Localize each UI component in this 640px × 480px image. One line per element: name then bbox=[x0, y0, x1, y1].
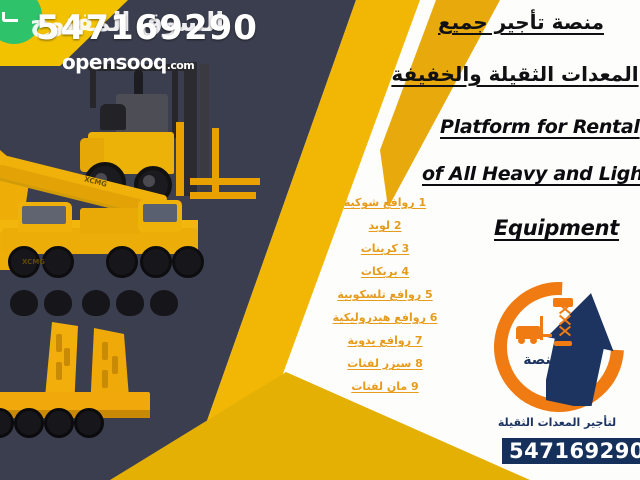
logo-wordmark: المنصة bbox=[508, 352, 586, 368]
crane-wheel bbox=[140, 246, 172, 278]
crane-wheel bbox=[42, 246, 74, 278]
advertisement-canvas: CAT XCMG XCMG bbox=[0, 0, 640, 480]
headline-arabic-line-1: منصة تأجير جميع bbox=[386, 10, 640, 34]
forklift-seat bbox=[100, 104, 126, 130]
phone-number-bottom: 547169290 bbox=[500, 436, 640, 466]
equipment-list-item: 8 سيزر لفتات bbox=[320, 357, 450, 370]
headline-english-line-2: of All Heavy and Light bbox=[422, 163, 640, 185]
equipment-list-item: 9 مان لفتات bbox=[320, 380, 450, 393]
equipment-list: 1 روافع شوكية 2 لوبد 3 كرينات 4 بريكات 5… bbox=[320, 196, 450, 403]
equipment-list-item: 1 روافع شوكية bbox=[320, 196, 450, 209]
equipment-list-item: 2 لوبد bbox=[320, 219, 450, 232]
crane-cab-window bbox=[22, 206, 66, 224]
forklift-post-front bbox=[90, 68, 96, 108]
headline-english-line-3: Equipment bbox=[494, 216, 619, 240]
equipment-list-item: 5 روافع تلسكوبية bbox=[320, 288, 450, 301]
logo-tagline: لتأجير المعدات الثقيلة bbox=[474, 416, 640, 429]
opensooq-domain-text: opensooq bbox=[62, 50, 167, 74]
headline-english-line-1: Platform for Rental bbox=[440, 116, 640, 138]
scissor-lift-icon bbox=[550, 298, 576, 346]
equipment-list-item: 7 روافع يدوية bbox=[320, 334, 450, 347]
trailer-axles bbox=[0, 408, 104, 438]
crane-operator-window bbox=[143, 204, 177, 222]
company-logo: المنصة bbox=[494, 282, 618, 406]
equipment-list-item: 3 كرينات bbox=[320, 242, 450, 255]
opensooq-domain-tld: .com bbox=[167, 59, 194, 72]
crane-turret bbox=[80, 208, 140, 234]
equipment-list-item: 4 بريكات bbox=[320, 265, 450, 278]
xcmg-mobile-crane-photo: XCMG XCMG bbox=[0, 150, 218, 275]
opensooq-domain-wordmark: opensooq.com bbox=[62, 50, 194, 74]
equipment-list-item: 6 روافع هيدروليكية bbox=[320, 311, 450, 324]
phone-number-top: 547169290 bbox=[36, 8, 258, 48]
crane-wheel bbox=[106, 246, 138, 278]
forklift-icon bbox=[516, 316, 550, 344]
lowboy-trailer-photo bbox=[0, 300, 220, 460]
crane-wheel bbox=[172, 246, 204, 278]
crane-brand-label: XCMG bbox=[22, 258, 45, 266]
trailer-truck-wheels bbox=[10, 290, 190, 316]
headline-arabic-line-2: المعدات الثقيلة والخفيفة bbox=[380, 62, 640, 86]
